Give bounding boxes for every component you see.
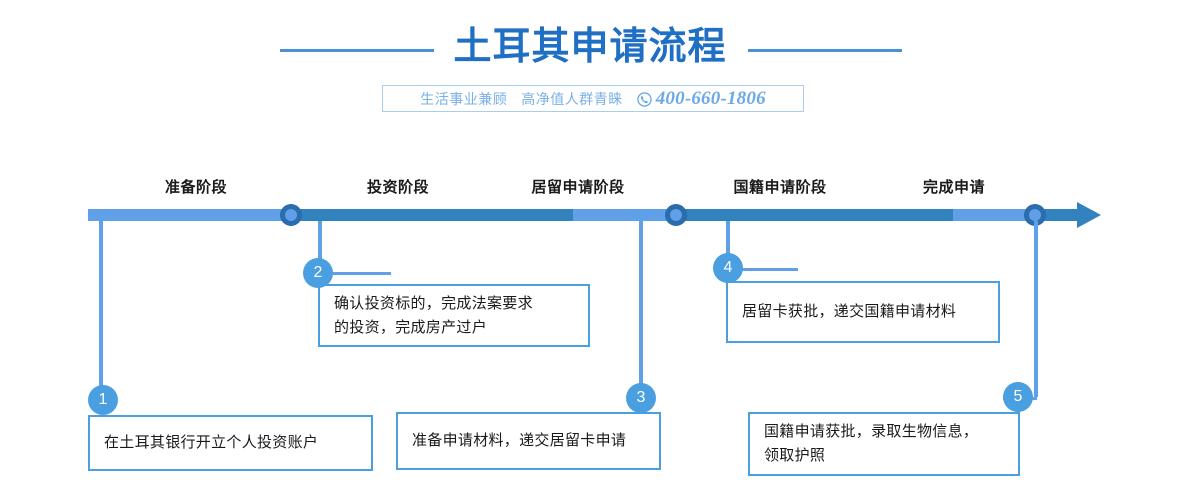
stage-label-4: 国籍申请阶段 [733, 176, 826, 197]
step-box-1[interactable]: 在土耳其银行开立个人投资账户 [88, 415, 373, 471]
step-number-badge-1[interactable]: 1 [88, 385, 118, 415]
stage-label-1: 准备阶段 [165, 176, 227, 197]
connector-horizontal-4 [742, 268, 798, 271]
axis-segment-1 [88, 209, 291, 221]
subtitle-left-text: 生活事业兼顾 [420, 89, 507, 109]
connector-vertical-1 [99, 221, 103, 401]
phone-block[interactable]: 400-660-1806 [637, 88, 766, 110]
axis-segment-2 [291, 209, 573, 221]
connector-vertical-3 [639, 221, 643, 386]
timeline-axis [88, 209, 1040, 221]
step-box-3[interactable]: 准备申请材料，递交居留卡申请 [396, 412, 661, 470]
step-number-badge-4[interactable]: 4 [713, 253, 743, 283]
step-text-4: 居留卡获批，递交国籍申请材料 [728, 300, 970, 324]
step-number-badge-3[interactable]: 3 [626, 383, 656, 413]
axis-segment-highlight [676, 209, 953, 221]
step-box-2[interactable]: 确认投资标的，完成法案要求 的投资，完成房产过户 [318, 284, 590, 347]
step-number-badge-5[interactable]: 5 [1003, 382, 1033, 412]
step-text-5: 国籍申请获批，录取生物信息， 领取护照 [750, 420, 992, 468]
axis-segment-3 [573, 209, 676, 221]
timeline-node-1[interactable] [280, 204, 302, 226]
subtitle-right-text: 高净值人群青睐 [521, 89, 623, 109]
title-rule-right [748, 49, 902, 52]
phone-in-circle-icon [637, 92, 652, 107]
infographic-canvas: 土耳其申请流程 生活事业兼顾 高净值人群青睐 400-660-1806 准备阶段… [0, 0, 1180, 483]
stage-label-3: 居留申请阶段 [531, 176, 624, 197]
connector-horizontal-2 [333, 272, 391, 275]
header: 土耳其申请流程 [0, 22, 1180, 80]
phone-number: 400-660-1806 [656, 88, 766, 110]
stage-label-2: 投资阶段 [367, 176, 429, 197]
step-box-4[interactable]: 居留卡获批，递交国籍申请材料 [726, 281, 1000, 343]
step-box-5[interactable]: 国籍申请获批，录取生物信息， 领取护照 [748, 412, 1020, 476]
step-text-1: 在土耳其银行开立个人投资账户 [90, 431, 332, 455]
right-arrow-head-icon [1077, 202, 1101, 228]
connector-vertical-5 [1034, 221, 1038, 397]
timeline-node-2[interactable] [665, 204, 687, 226]
subtitle-banner: 生活事业兼顾 高净值人群青睐 400-660-1806 [382, 85, 804, 112]
step-number-badge-2[interactable]: 2 [303, 258, 333, 288]
step-text-3: 准备申请材料，递交居留卡申请 [398, 429, 640, 453]
stage-label-5: 完成申请 [923, 176, 985, 197]
page-title: 土耳其申请流程 [0, 22, 1180, 72]
step-text-2: 确认投资标的，完成法案要求 的投资，完成房产过户 [320, 292, 547, 340]
